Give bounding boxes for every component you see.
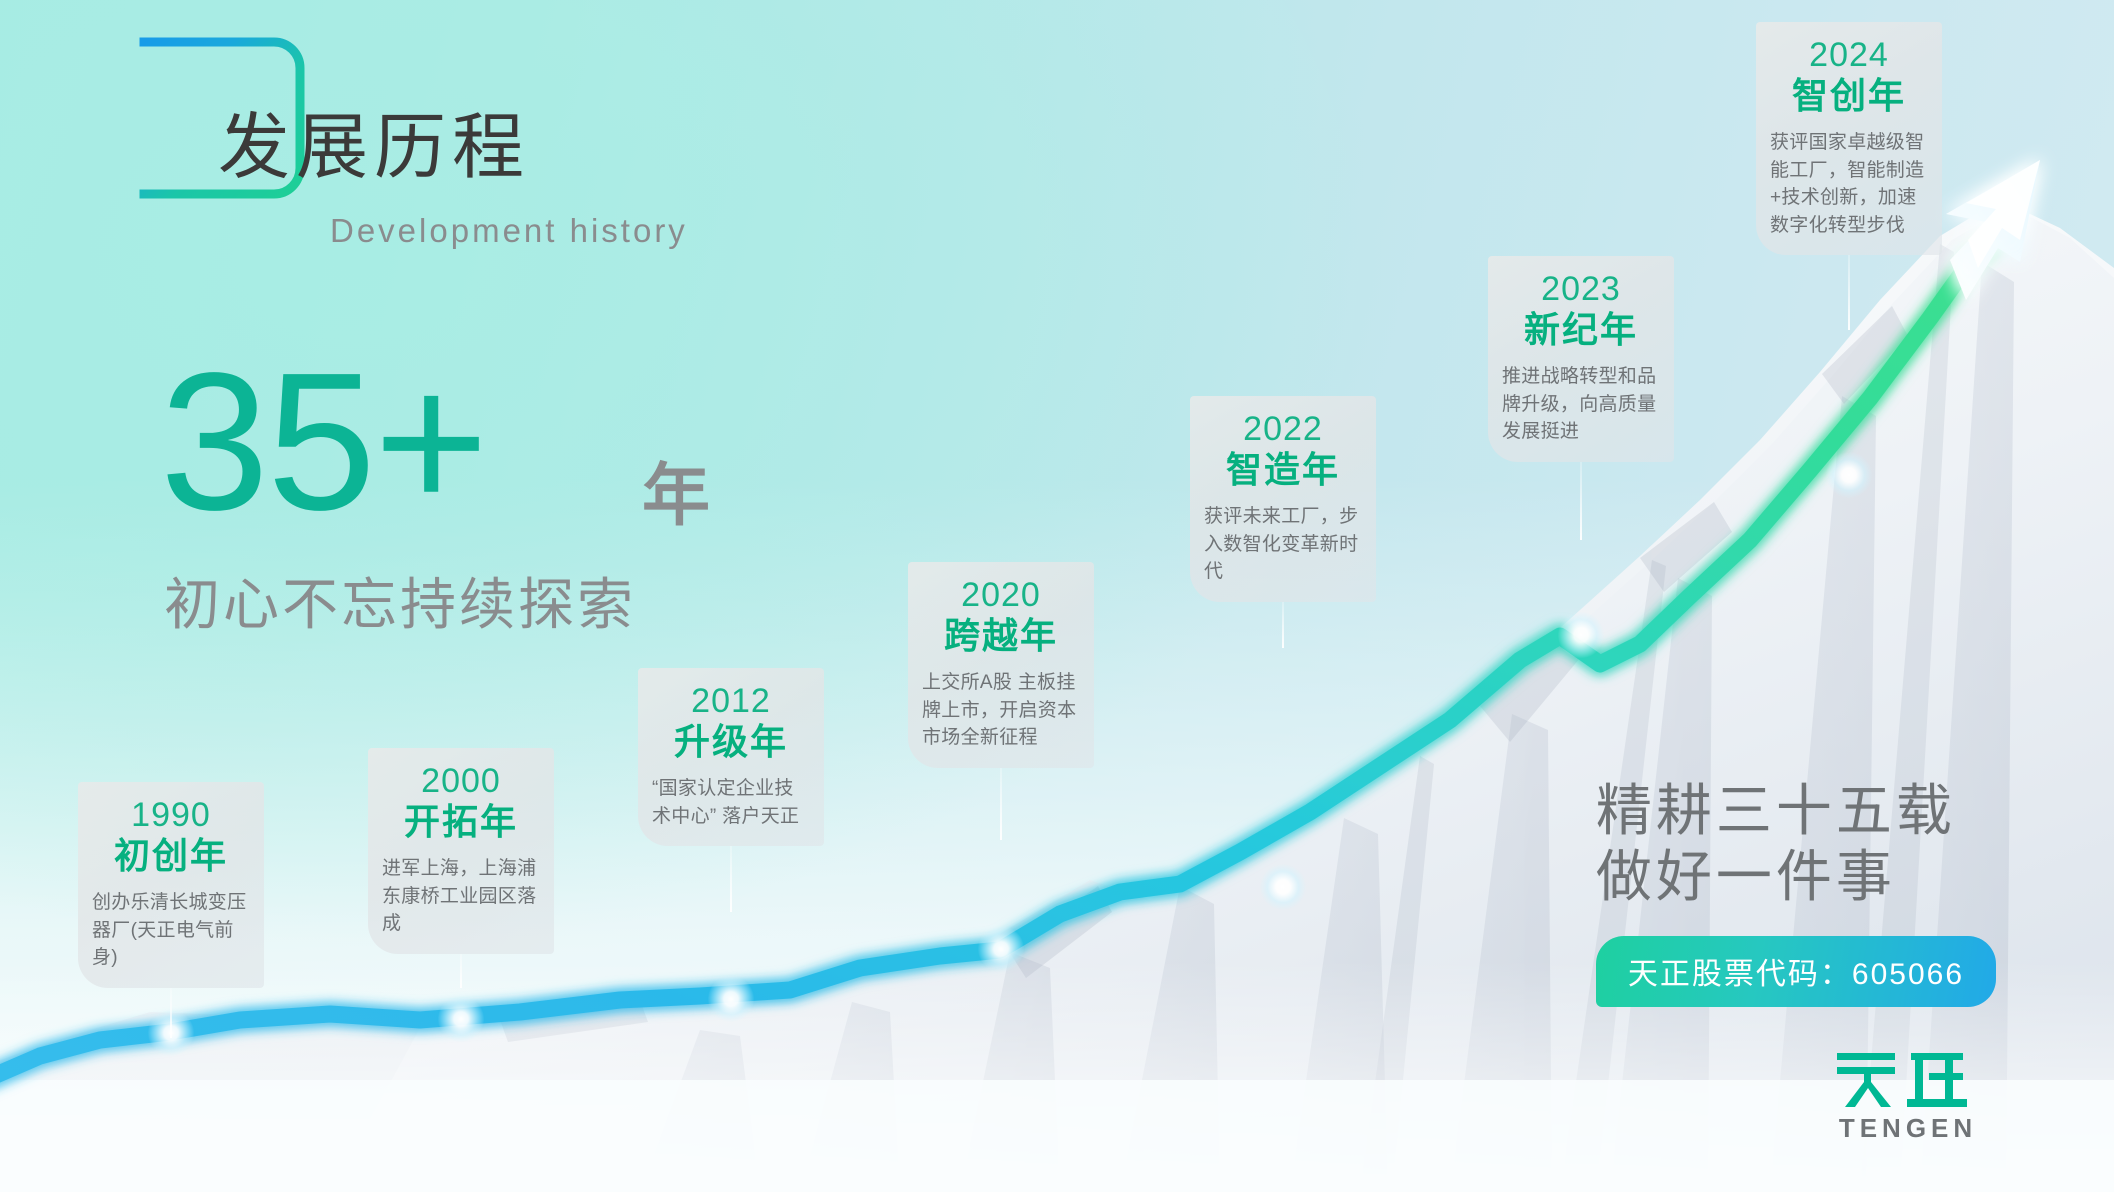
development-history-infographic: 发展历程 Development history 35+ 年 初心不忘持续探索 … bbox=[0, 0, 2114, 1192]
milestone-name: 升级年 bbox=[648, 720, 814, 763]
slogan-line-1: 精耕三十五载 bbox=[1596, 778, 1996, 844]
milestone-stem bbox=[1580, 462, 1582, 540]
years-stat-block: 35+ 年 初心不忘持续探索 bbox=[160, 352, 800, 632]
timeline-node bbox=[708, 976, 754, 1022]
milestone-description: 上交所A股 主板挂牌上市，开启资本市场全新征程 bbox=[918, 669, 1084, 752]
milestone-stem bbox=[460, 954, 462, 988]
timeline-node bbox=[1260, 864, 1306, 910]
milestone-card-2022[interactable]: 2022智造年获评未来工厂，步入数智化变革新时代 bbox=[1190, 396, 1376, 602]
milestone-card-2020[interactable]: 2020跨越年上交所A股 主板挂牌上市，开启资本市场全新征程 bbox=[908, 562, 1094, 768]
slogan-line-2: 做好一件事 bbox=[1596, 844, 1996, 910]
milestone-name: 开拓年 bbox=[378, 800, 544, 843]
milestone-card-body: 2012升级年“国家认定企业技术中心” 落户天正 bbox=[638, 668, 824, 846]
milestone-year: 2023 bbox=[1498, 270, 1664, 309]
timeline-node bbox=[1558, 612, 1604, 658]
milestone-year: 2012 bbox=[648, 682, 814, 721]
milestone-description: “国家认定企业技术中心” 落户天正 bbox=[648, 775, 814, 830]
years-number: 35+ bbox=[160, 352, 486, 532]
tengen-wordmark: TENGEN bbox=[1824, 1113, 1992, 1144]
milestone-year: 2024 bbox=[1766, 36, 1932, 75]
milestone-stem bbox=[170, 988, 172, 1038]
milestone-stem bbox=[1282, 602, 1284, 648]
milestone-stem bbox=[730, 846, 732, 912]
milestone-card-2012[interactable]: 2012升级年“国家认定企业技术中心” 落户天正 bbox=[638, 668, 824, 846]
milestone-card-2023[interactable]: 2023新纪年推进战略转型和品牌升级，向高质量发展挺进 bbox=[1488, 256, 1674, 462]
milestone-year: 2000 bbox=[378, 762, 544, 801]
milestone-description: 获评未来工厂，步入数智化变革新时代 bbox=[1200, 503, 1366, 586]
milestone-description: 获评国家卓越级智能工厂，智能制造+技术创新，加速数字化转型步伐 bbox=[1766, 129, 1932, 239]
milestone-year: 1990 bbox=[88, 796, 254, 835]
tengen-mark-icon bbox=[1833, 1045, 1983, 1111]
milestone-card-body: 2022智造年获评未来工厂，步入数智化变革新时代 bbox=[1190, 396, 1376, 602]
company-logo: TENGEN bbox=[1824, 1045, 1992, 1144]
milestone-card-body: 2023新纪年推进战略转型和品牌升级，向高质量发展挺进 bbox=[1488, 256, 1674, 462]
milestone-card-2024[interactable]: 2024智创年获评国家卓越级智能工厂，智能制造+技术创新，加速数字化转型步伐 bbox=[1756, 22, 1942, 255]
years-unit: 年 bbox=[642, 440, 710, 539]
timeline-node bbox=[438, 996, 484, 1042]
milestone-card-1990[interactable]: 1990初创年创办乐清长城变压器厂(天正电气前身) bbox=[78, 782, 264, 988]
stock-code-badge: 天正股票代码：605066 bbox=[1596, 936, 1996, 1007]
milestone-description: 推进战略转型和品牌升级，向高质量发展挺进 bbox=[1498, 363, 1664, 446]
milestone-name: 智创年 bbox=[1766, 74, 1932, 117]
milestone-stem bbox=[1000, 768, 1002, 840]
timeline-node bbox=[1826, 452, 1872, 498]
page-subtitle: Development history bbox=[330, 212, 688, 250]
milestone-card-body: 2000开拓年进军上海，上海浦东康桥工业园区落成 bbox=[368, 748, 554, 954]
milestone-card-2000[interactable]: 2000开拓年进军上海，上海浦东康桥工业园区落成 bbox=[368, 748, 554, 954]
milestone-card-body: 2020跨越年上交所A股 主板挂牌上市，开启资本市场全新征程 bbox=[908, 562, 1094, 768]
years-caption: 初心不忘持续探索 bbox=[164, 560, 636, 641]
milestone-name: 新纪年 bbox=[1498, 308, 1664, 351]
milestone-description: 创办乐清长城变压器厂(天正电气前身) bbox=[88, 889, 254, 972]
milestone-name: 跨越年 bbox=[918, 614, 1084, 657]
milestone-year: 2020 bbox=[918, 576, 1084, 615]
page-title: 发展历程 bbox=[218, 112, 530, 184]
brand-slogan: 精耕三十五载 做好一件事 天正股票代码：605066 bbox=[1596, 778, 1996, 1007]
milestone-year: 2022 bbox=[1200, 410, 1366, 449]
milestone-name: 初创年 bbox=[88, 834, 254, 877]
timeline-node bbox=[978, 926, 1024, 972]
page-header: 发展历程 Development history bbox=[118, 34, 818, 224]
milestone-card-body: 2024智创年获评国家卓越级智能工厂，智能制造+技术创新，加速数字化转型步伐 bbox=[1756, 22, 1942, 255]
milestone-stem bbox=[1848, 255, 1850, 330]
milestone-name: 智造年 bbox=[1200, 448, 1366, 491]
milestone-card-body: 1990初创年创办乐清长城变压器厂(天正电气前身) bbox=[78, 782, 264, 988]
milestone-description: 进军上海，上海浦东康桥工业园区落成 bbox=[378, 855, 544, 938]
